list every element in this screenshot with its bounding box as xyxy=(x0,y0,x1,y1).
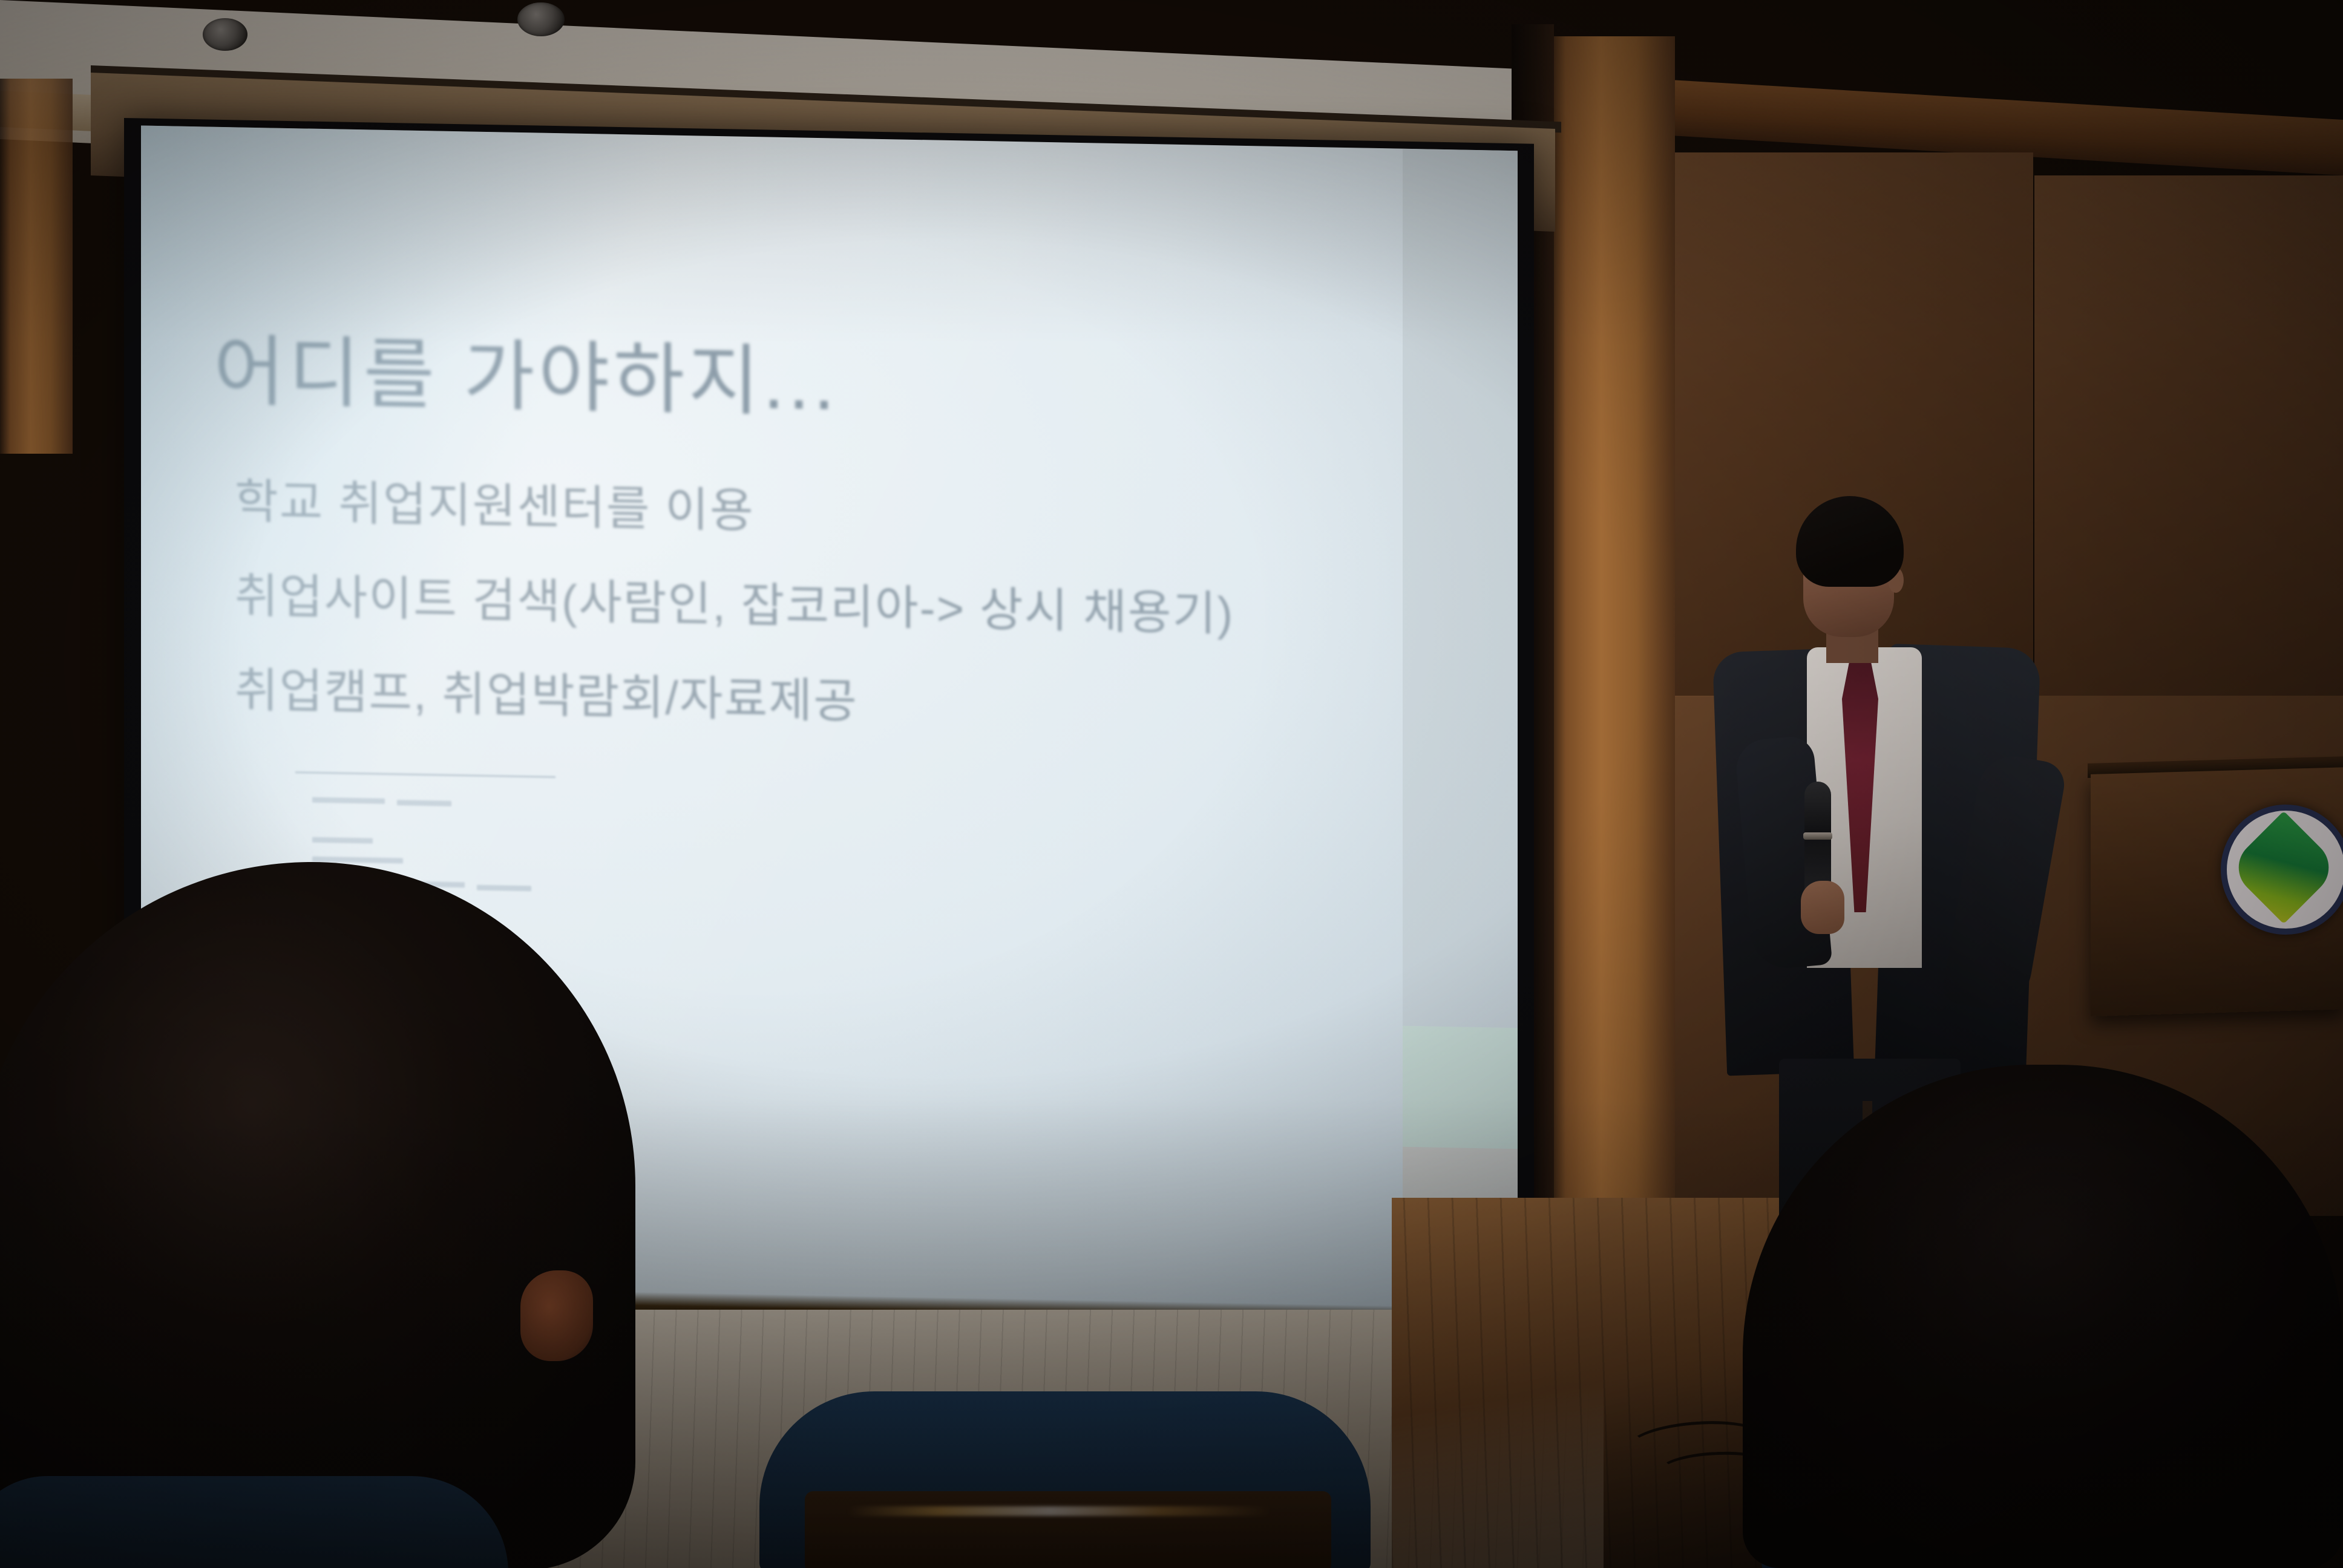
presenter-hair xyxy=(1796,496,1904,587)
slide-bullet-1: 학교 취업지원센터를 이용 xyxy=(235,463,1493,554)
downlight-icon xyxy=(517,2,565,36)
slide-bullet-2: 취업사이트 검색(사람인, 잡코리아-> 상시 채용기) xyxy=(235,558,1493,648)
figure-rule xyxy=(295,771,555,778)
audience-ear-left xyxy=(520,1270,593,1361)
audience-head-left xyxy=(0,862,635,1568)
audience-shoulder-left xyxy=(0,1476,508,1568)
chair-rail xyxy=(805,1491,1331,1568)
chair-highlight xyxy=(847,1506,1271,1516)
slide-bullet-3: 취업캠프, 취업박람회/자료제공 xyxy=(235,652,1493,743)
slide-body: 학교 취업지원센터를 이용 취업사이트 검색(사람인, 잡코리아-> 상시 채용… xyxy=(235,463,1493,769)
figure-cell xyxy=(312,797,385,804)
wall-pillar xyxy=(1548,36,1675,1343)
figure-cell xyxy=(312,837,373,844)
figure-cell xyxy=(397,800,451,806)
slide-title: 어디를 가야하지... xyxy=(214,309,839,432)
figure-cell xyxy=(477,885,531,892)
institution-emblem-icon xyxy=(2221,805,2343,935)
downlight-icon xyxy=(203,18,247,51)
presenter-hand xyxy=(1801,881,1844,934)
photo-scene: 어디를 가야하지... 학교 취업지원센터를 이용 취업사이트 검색(사람인, … xyxy=(0,0,2343,1568)
wall-panel xyxy=(2034,175,2343,696)
slide-band-mint xyxy=(1403,1026,1518,1149)
emblem-leaf-shape xyxy=(2227,811,2341,924)
microphone-ring xyxy=(1803,832,1832,840)
wall-pillar xyxy=(0,79,73,454)
